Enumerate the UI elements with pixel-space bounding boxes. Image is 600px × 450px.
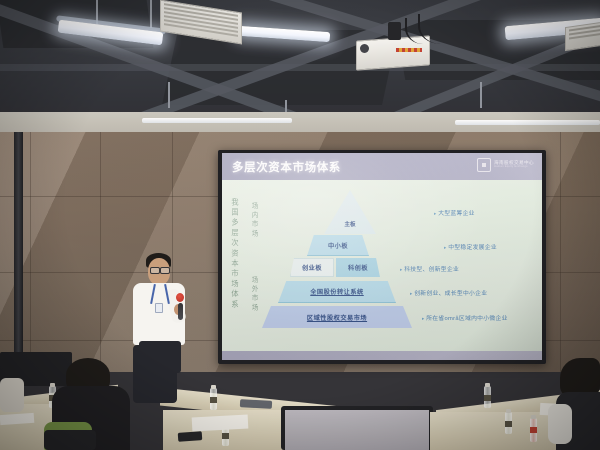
microphone-head <box>176 293 184 302</box>
annotation-tier-1: 大型蓝筹企业 <box>434 208 475 217</box>
projector-lens <box>360 44 369 53</box>
glasses-icon <box>160 267 170 274</box>
tile-seam <box>30 132 31 372</box>
tile-seam <box>100 132 101 372</box>
pyramid-tier-label: 主板 <box>336 220 364 228</box>
slide-body: 我国多层次资本市场体系 场内市场 场外市场 主板 中小板 创业板 科创板 <box>222 180 542 351</box>
pyramid-tier-3a: 创业板 <box>290 258 334 277</box>
document-paper <box>192 415 249 432</box>
pyramid-tier-label: 科创板 <box>348 263 368 272</box>
logo-name-en: Hainan Equity Exchange <box>494 166 534 169</box>
smartphone <box>178 431 203 442</box>
air-conditioner-vent <box>565 21 600 51</box>
desk-nameplate <box>240 399 272 409</box>
logo-mark-icon <box>477 158 491 172</box>
organization-logo: 海南股权交易中心 Hainan Equity Exchange <box>477 158 534 172</box>
air-conditioner-vent <box>160 0 242 44</box>
strip-light <box>455 120 600 125</box>
microphone <box>178 303 183 320</box>
laptop <box>281 406 433 450</box>
pyramid-tier-4: 全国股份转让系统 <box>278 281 396 303</box>
projection-screen: 多层次资本市场体系 海南股权交易中心 Hainan Equity Exchang… <box>222 153 542 360</box>
id-badge <box>155 303 163 313</box>
side-label-outer-market: 场外市场 <box>248 276 258 313</box>
annotation-tier-5: 所在省områ区域内中小微企业 <box>422 313 508 322</box>
audience-torso <box>0 378 24 412</box>
water-bottle <box>530 418 537 442</box>
sprinkler-drop <box>285 100 287 112</box>
pyramid-tier-2: 中小板 <box>307 235 369 256</box>
slide-footer-bar <box>222 351 542 360</box>
glasses-icon <box>150 267 160 274</box>
presenter-legs <box>133 345 177 403</box>
audience-sleeve <box>548 404 572 444</box>
water-bottle <box>484 386 491 408</box>
pyramid-tier-label: 区域性股权交易市场 <box>307 313 367 322</box>
pyramid-tier-3b: 科创板 <box>336 258 380 277</box>
sprinkler-drop <box>168 82 170 108</box>
annotation-tier-3: 科技型、创新型企业 <box>400 264 459 273</box>
annotation-tier-4: 创新创业、成长型中小企业 <box>410 288 487 297</box>
page-title: 多层次资本市场体系 <box>232 159 341 175</box>
side-label-inner-market: 场内市场 <box>248 202 258 239</box>
light-hanger <box>150 0 152 28</box>
slide-title-bar: 多层次资本市场体系 海南股权交易中心 Hainan Equity Exchang… <box>222 153 542 180</box>
strip-light <box>142 118 292 123</box>
wall-column-edge <box>14 132 23 372</box>
water-bottle <box>210 388 217 410</box>
projector-indicator <box>396 48 422 52</box>
pyramid-tier-label: 创业板 <box>302 263 322 272</box>
photo-scene: 多层次资本市场体系 海南股权交易中心 Hainan Equity Exchang… <box>0 0 600 450</box>
tile-seam <box>560 132 561 372</box>
water-bottle <box>505 412 512 434</box>
chair-frame <box>44 430 96 450</box>
annotation-tier-2: 中型稳定发展企业 <box>444 242 497 251</box>
slide: 多层次资本市场体系 海南股权交易中心 Hainan Equity Exchang… <box>222 153 542 360</box>
pyramid-tier-label: 中小板 <box>328 241 348 250</box>
projector-mount <box>388 22 401 40</box>
pyramid-tier-5: 区域性股权交易市场 <box>262 306 412 328</box>
side-label-main: 我国多层次资本市场体系 <box>230 198 240 310</box>
ceiling <box>0 0 600 122</box>
sprinkler-drop <box>480 82 482 108</box>
pyramid-tier-label: 全国股份转让系统 <box>310 287 364 296</box>
